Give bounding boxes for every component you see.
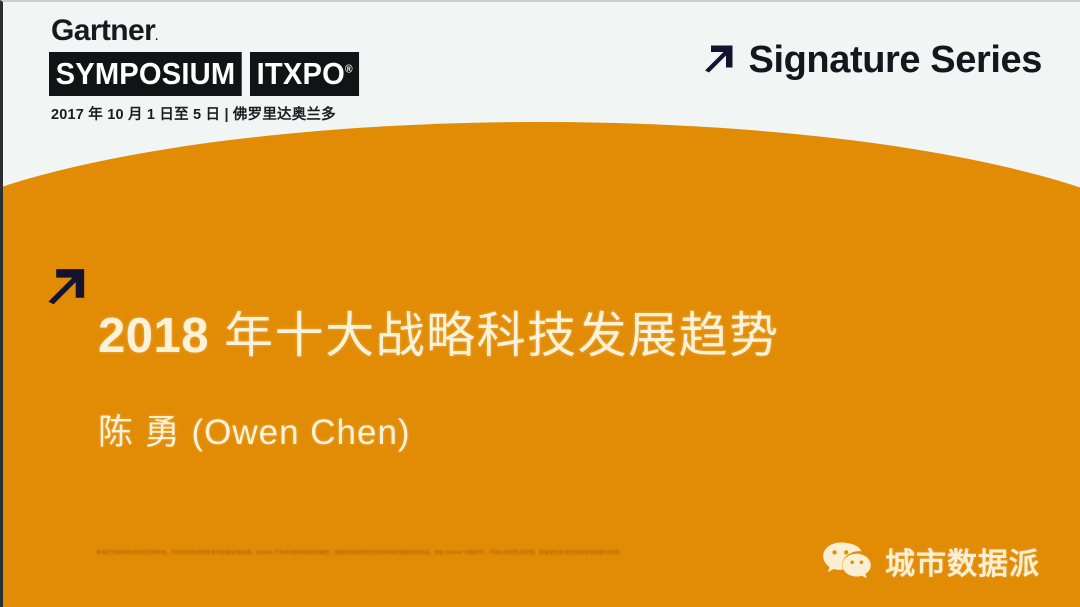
- speaker-name: 陈 勇 (Owen Chen): [98, 404, 411, 455]
- presentation-slide: Gartner. SYMPOSIUM ITXPO® 2017 年 10 月 1 …: [0, 0, 1080, 607]
- legal-disclaimer: 本演示文稿中所述内容仅供参考，不构成对任何特定事项的建议或承诺。Gartner …: [96, 550, 636, 558]
- watermark-label: 城市数据派: [885, 539, 1040, 583]
- title-year: 2018: [98, 309, 209, 363]
- itxpo-block: ITXPO®: [250, 52, 359, 96]
- gartner-logo: Gartner. SYMPOSIUM ITXPO® 2017 年 10 月 1 …: [49, 16, 367, 124]
- itxpo-label: ITXPO: [257, 56, 345, 91]
- gartner-registered-mark: .: [155, 31, 157, 43]
- itxpo-registered-mark: ®: [345, 64, 353, 76]
- arrow-up-right-icon: [697, 40, 737, 80]
- event-date-location: 2017 年 10 月 1 日至 5 日 | 佛罗里达奥兰多: [51, 103, 367, 124]
- orange-body-shape: [0, 122, 1080, 607]
- wechat-icon: [822, 540, 872, 582]
- signature-series-label: Signature Series: [749, 41, 1043, 79]
- page-title: 2018 年十大战略科技发展趋势: [98, 309, 780, 364]
- watermark: 城市数据派: [822, 539, 1040, 583]
- gartner-wordmark: Gartner.: [51, 16, 367, 46]
- symposium-itxpo-blocks: SYMPOSIUM ITXPO®: [49, 52, 367, 96]
- gartner-wordmark-text: Gartner: [51, 14, 155, 47]
- title-text: 年十大战略科技发展趋势: [209, 309, 780, 363]
- arrow-up-right-icon: [38, 262, 90, 314]
- symposium-block: SYMPOSIUM: [49, 52, 242, 96]
- signature-series-lockup: Signature Series: [697, 40, 1043, 80]
